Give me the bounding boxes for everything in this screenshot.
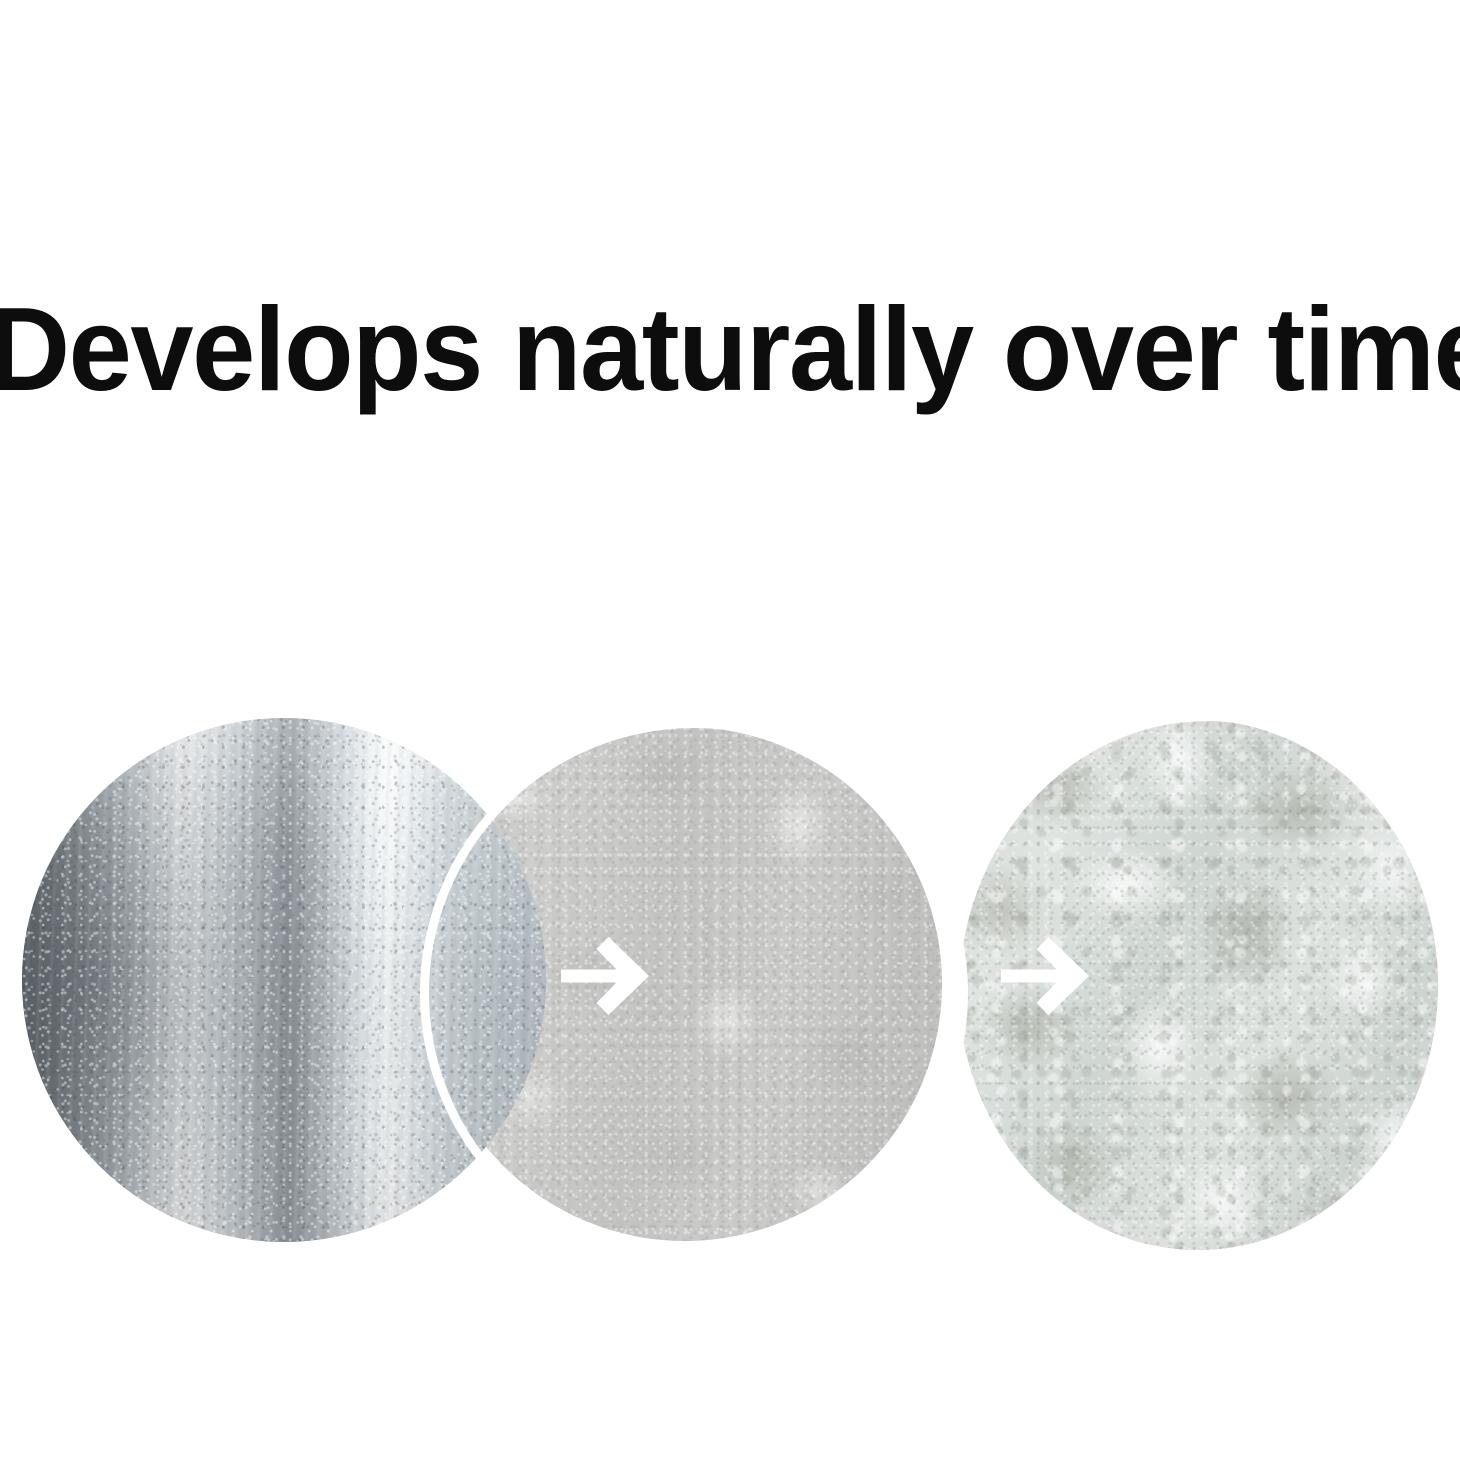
patina-progression-row xyxy=(0,0,1460,600)
stage-circle-bright-galvanized-zinc xyxy=(22,718,546,1242)
slide-canvas: Develops naturally over time xyxy=(0,0,1460,1460)
stage-circle-developed-patina xyxy=(958,720,1438,1250)
zinc-grain-overlay xyxy=(22,718,546,1242)
patina-speckle-overlay xyxy=(958,720,1438,1250)
